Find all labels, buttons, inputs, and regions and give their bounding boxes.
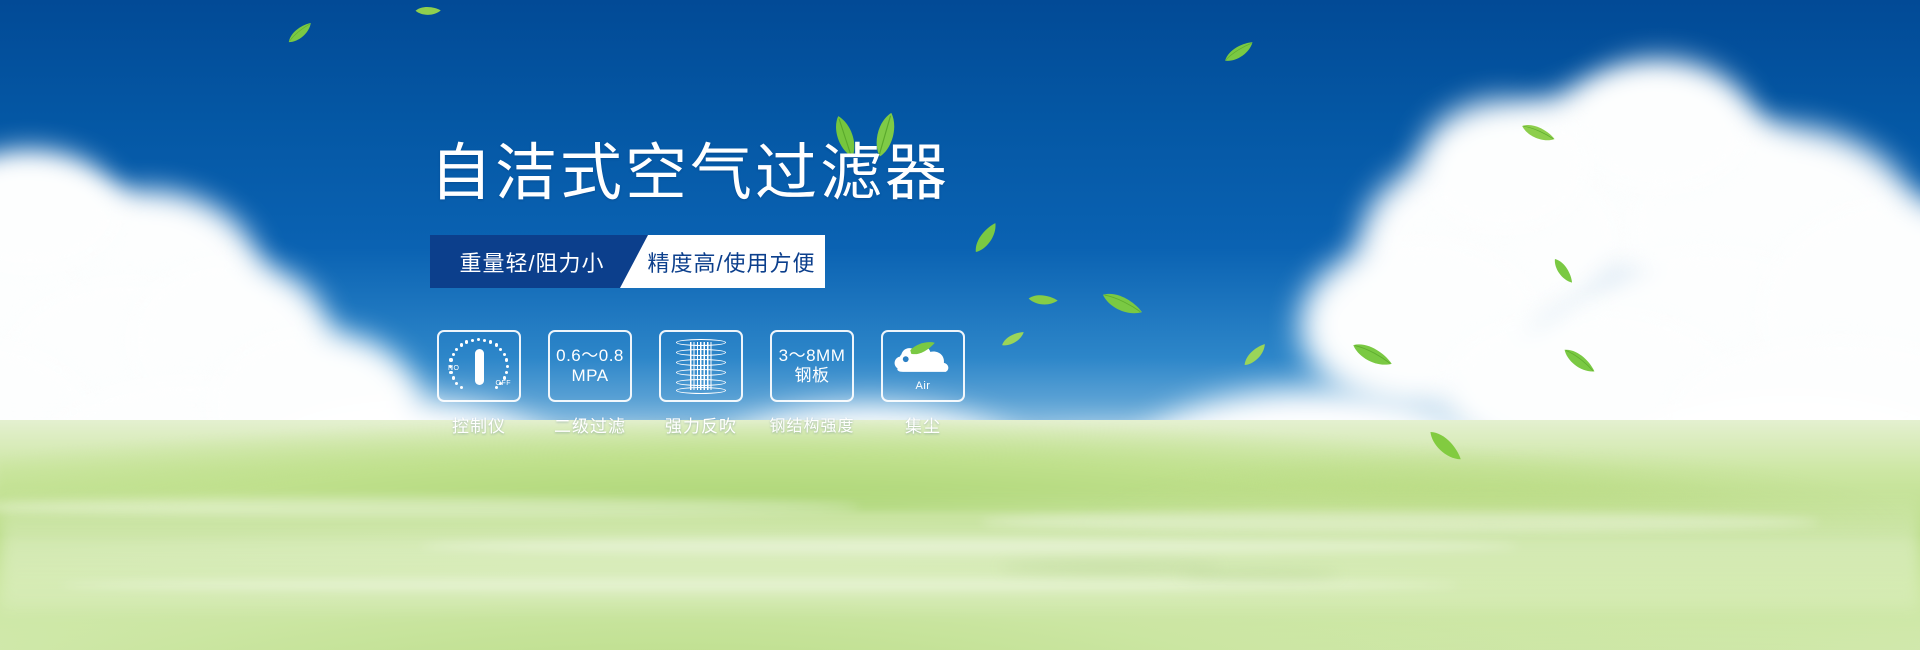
feature-item[interactable]: Air 集尘: [881, 330, 965, 437]
filter-stack-icon: [676, 338, 726, 394]
air-label: Air: [891, 380, 955, 392]
gauge-needle: [475, 349, 484, 385]
steel-plate-text-icon: 3～8MM 钢板: [779, 346, 846, 386]
air-cloud-icon: Air: [891, 341, 955, 391]
page-title: 自洁式空气过滤器: [430, 143, 950, 205]
feature-icon-box: NO OFF: [437, 330, 521, 402]
feature-label: 钢结构强度: [770, 412, 855, 436]
feature-label: 强力反吹: [665, 412, 737, 437]
feature-icon-box: [659, 330, 743, 402]
feature-item[interactable]: 3～8MM 钢板 钢结构强度: [770, 330, 854, 437]
product-banner: 自洁式空气过滤器 重量轻/阻力小 精度高/使用方便: [0, 0, 1920, 650]
feature-item[interactable]: 0.6～0.8 MPA 二级过滤: [548, 330, 632, 437]
feature-label: 集尘: [905, 412, 941, 437]
feature-icon-box: Air: [881, 330, 965, 402]
feature-icon-box: 0.6～0.8 MPA: [548, 330, 632, 402]
gauge-label-off: OFF: [496, 380, 512, 387]
gauge-dial-icon: NO OFF: [448, 338, 510, 394]
steel-line-2: 钢板: [779, 366, 846, 386]
feature-icon-box: 3～8MM 钢板: [770, 330, 854, 402]
feature-item[interactable]: NO OFF 控制仪: [437, 330, 521, 437]
pressure-text-icon: 0.6～0.8 MPA: [556, 346, 624, 386]
banner-content: 自洁式空气过滤器 重量轻/阻力小 精度高/使用方便: [0, 0, 1920, 650]
gauge-label-no: NO: [448, 365, 460, 372]
steel-line-1: 3～8MM: [779, 346, 846, 366]
feature-label: 控制仪: [452, 412, 506, 437]
feature-label: 二级过滤: [554, 412, 626, 437]
pressure-line-1: 0.6～0.8: [556, 346, 624, 366]
feature-list: NO OFF 控制仪 0.6～0.8 MPA 二级过滤: [437, 330, 965, 437]
subtitle-right: 精度高/使用方便: [620, 235, 825, 288]
feature-item[interactable]: 强力反吹: [659, 330, 743, 437]
pressure-line-2: MPA: [556, 366, 624, 386]
subtitle-bar: 重量轻/阻力小 精度高/使用方便: [430, 235, 825, 288]
subtitle-left: 重量轻/阻力小: [430, 235, 648, 288]
